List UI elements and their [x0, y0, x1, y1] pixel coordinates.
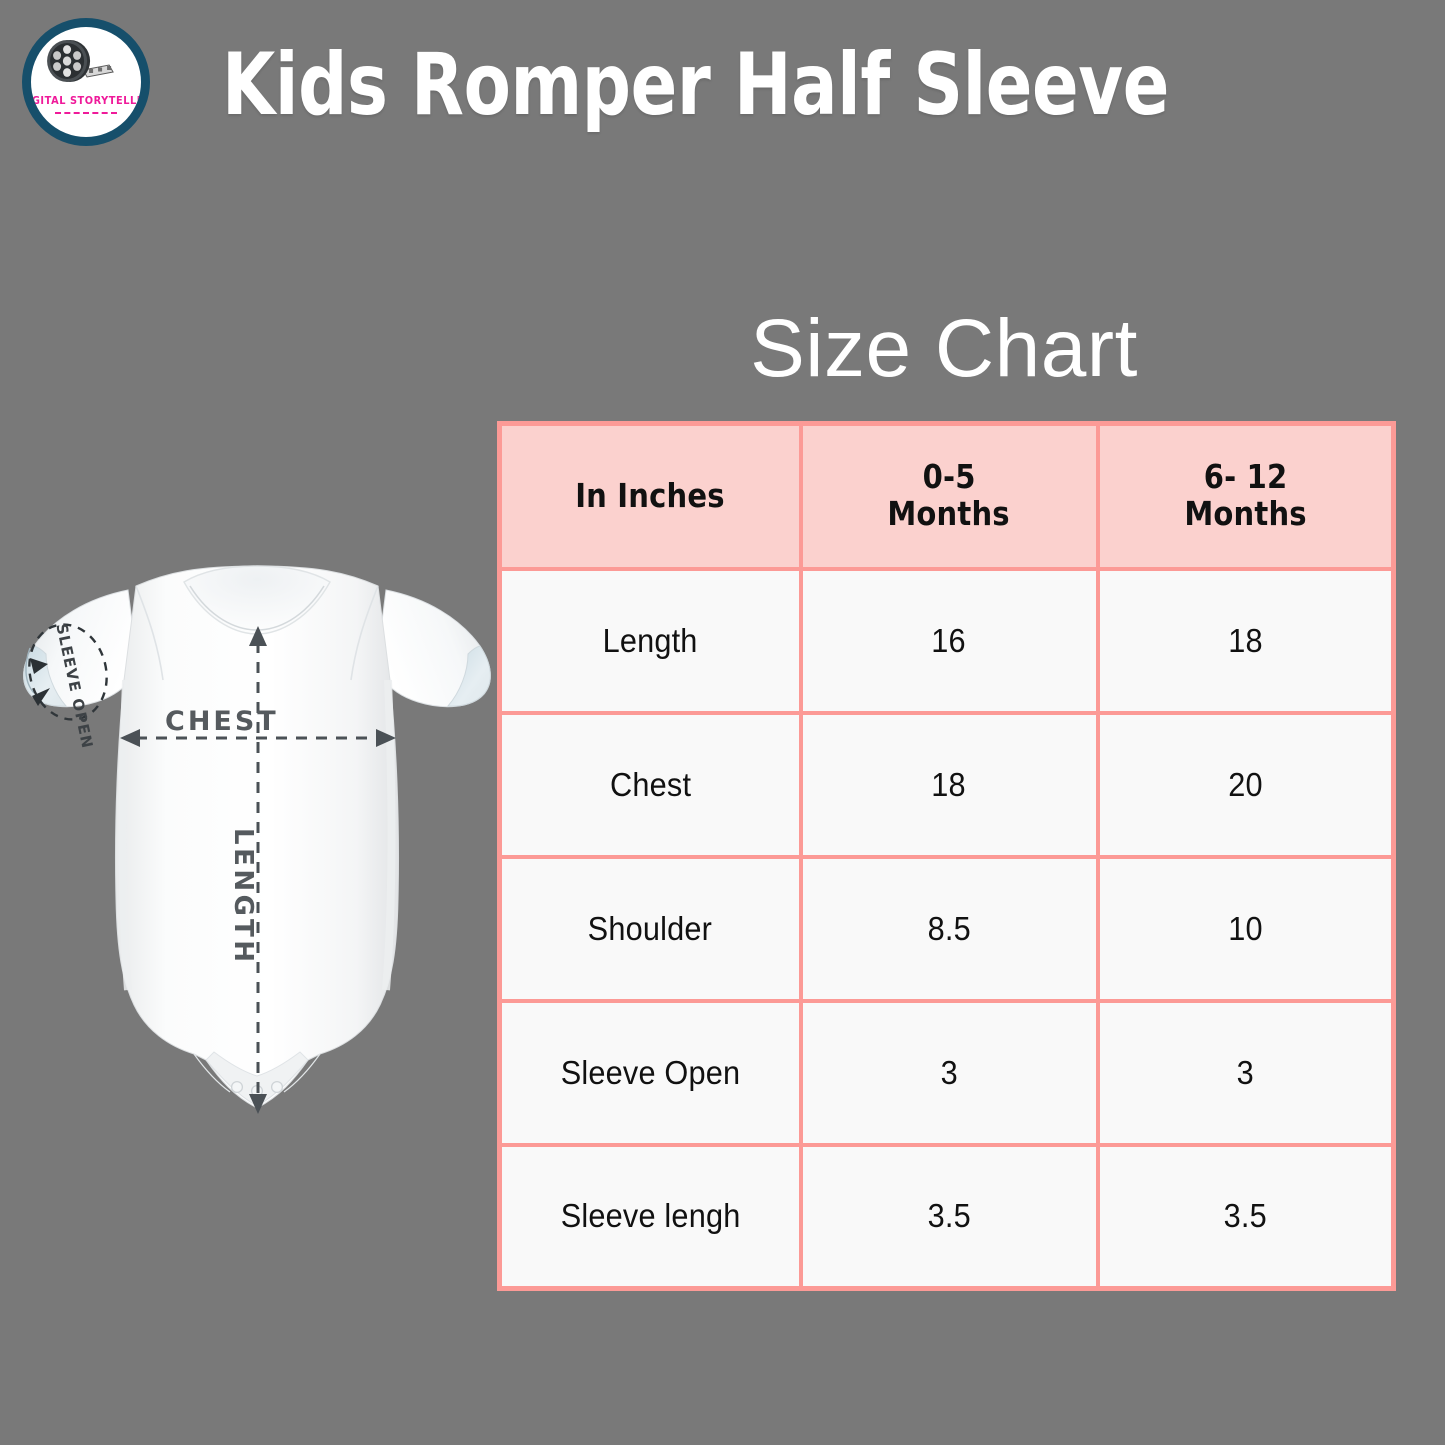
- table-header-row: In Inches 0-5 Months 6- 12 Months: [500, 424, 1394, 569]
- romper-bodysuit-graphic: [8, 560, 508, 1150]
- table-row: Shoulder 8.5 10: [500, 857, 1394, 1001]
- cell-sleeve-length-6-12: 3.5: [1098, 1145, 1394, 1289]
- cell-sleeve-open-6-12: 3: [1098, 1001, 1394, 1145]
- chest-measure-label: CHEST: [165, 706, 279, 737]
- table-row: Sleeve Open 3 3: [500, 1001, 1394, 1145]
- cell-shoulder-6-12: 10: [1098, 857, 1394, 1001]
- table-row: Sleeve lengh 3.5 3.5: [500, 1145, 1394, 1289]
- cell-text: 20: [1228, 766, 1263, 804]
- cell-shoulder-0-5: 8.5: [801, 857, 1098, 1001]
- row-label-chest: Chest: [500, 713, 801, 857]
- logo-brand-text: DIGITAL STORYTELLER: [22, 96, 150, 107]
- brand-logo-badge: DIGITAL STORYTELLER: [22, 18, 150, 146]
- cell-text: Shoulder: [588, 910, 712, 948]
- cell-text: 18: [932, 766, 967, 804]
- column-header-size-0-5-range: 0-5: [922, 459, 975, 496]
- cell-text: 8.5: [927, 910, 970, 948]
- page-title: Kids Romper Half Sleeve: [222, 42, 1070, 128]
- film-reel-icon: [43, 36, 117, 92]
- column-header-size-6-12-range: 6- 12: [1203, 459, 1287, 496]
- cell-length-0-5: 16: [801, 569, 1098, 713]
- column-header-measurement: In Inches: [500, 424, 801, 569]
- column-header-size-0-5: 0-5 Months: [801, 424, 1098, 569]
- table-body: Length 16 18 Chest 18 20: [500, 569, 1394, 1289]
- cell-chest-6-12: 20: [1098, 713, 1394, 857]
- cell-text: 16: [932, 622, 967, 660]
- row-label-shoulder: Shoulder: [500, 857, 801, 1001]
- row-label-sleeve-open: Sleeve Open: [500, 1001, 801, 1145]
- size-chart-heading: Size Chart: [497, 308, 1391, 390]
- product-illustration: CHEST LENGTH SLEEVE OPEN: [8, 560, 508, 1150]
- column-header-measurement-label: In Inches: [575, 478, 725, 515]
- size-chart-table: In Inches 0-5 Months 6- 12 Months Length…: [497, 421, 1396, 1291]
- cell-text: Sleeve lengh: [560, 1197, 740, 1235]
- table-header: In Inches 0-5 Months 6- 12 Months: [500, 424, 1394, 569]
- cell-text: 18: [1228, 622, 1263, 660]
- cell-text: 3: [1237, 1054, 1254, 1092]
- cell-text: 3.5: [927, 1197, 970, 1235]
- cell-length-6-12: 18: [1098, 569, 1394, 713]
- row-label-sleeve-length: Sleeve lengh: [500, 1145, 801, 1289]
- table-row: Chest 18 20: [500, 713, 1394, 857]
- cell-text: Length: [603, 622, 698, 660]
- cell-text: Chest: [610, 766, 691, 804]
- cell-text: 3.5: [1224, 1197, 1267, 1235]
- column-header-size-0-5-unit: Months: [888, 496, 1010, 533]
- column-header-size-6-12-unit: Months: [1184, 496, 1306, 533]
- cell-chest-0-5: 18: [801, 713, 1098, 857]
- logo-dashed-underline: [55, 112, 117, 114]
- cell-text: Sleeve Open: [561, 1054, 740, 1092]
- column-header-size-6-12: 6- 12 Months: [1098, 424, 1394, 569]
- cell-sleeve-length-0-5: 3.5: [801, 1145, 1098, 1289]
- row-label-length: Length: [500, 569, 801, 713]
- size-chart-canvas: DIGITAL STORYTELLER Kids Romper Half Sle…: [0, 0, 1445, 1445]
- length-measure-label: LENGTH: [228, 828, 258, 965]
- table-row: Length 16 18: [500, 569, 1394, 713]
- film-reel-icon-wrap: [31, 34, 141, 96]
- cell-text: 10: [1228, 910, 1263, 948]
- cell-sleeve-open-0-5: 3: [801, 1001, 1098, 1145]
- cell-text: 3: [940, 1054, 957, 1092]
